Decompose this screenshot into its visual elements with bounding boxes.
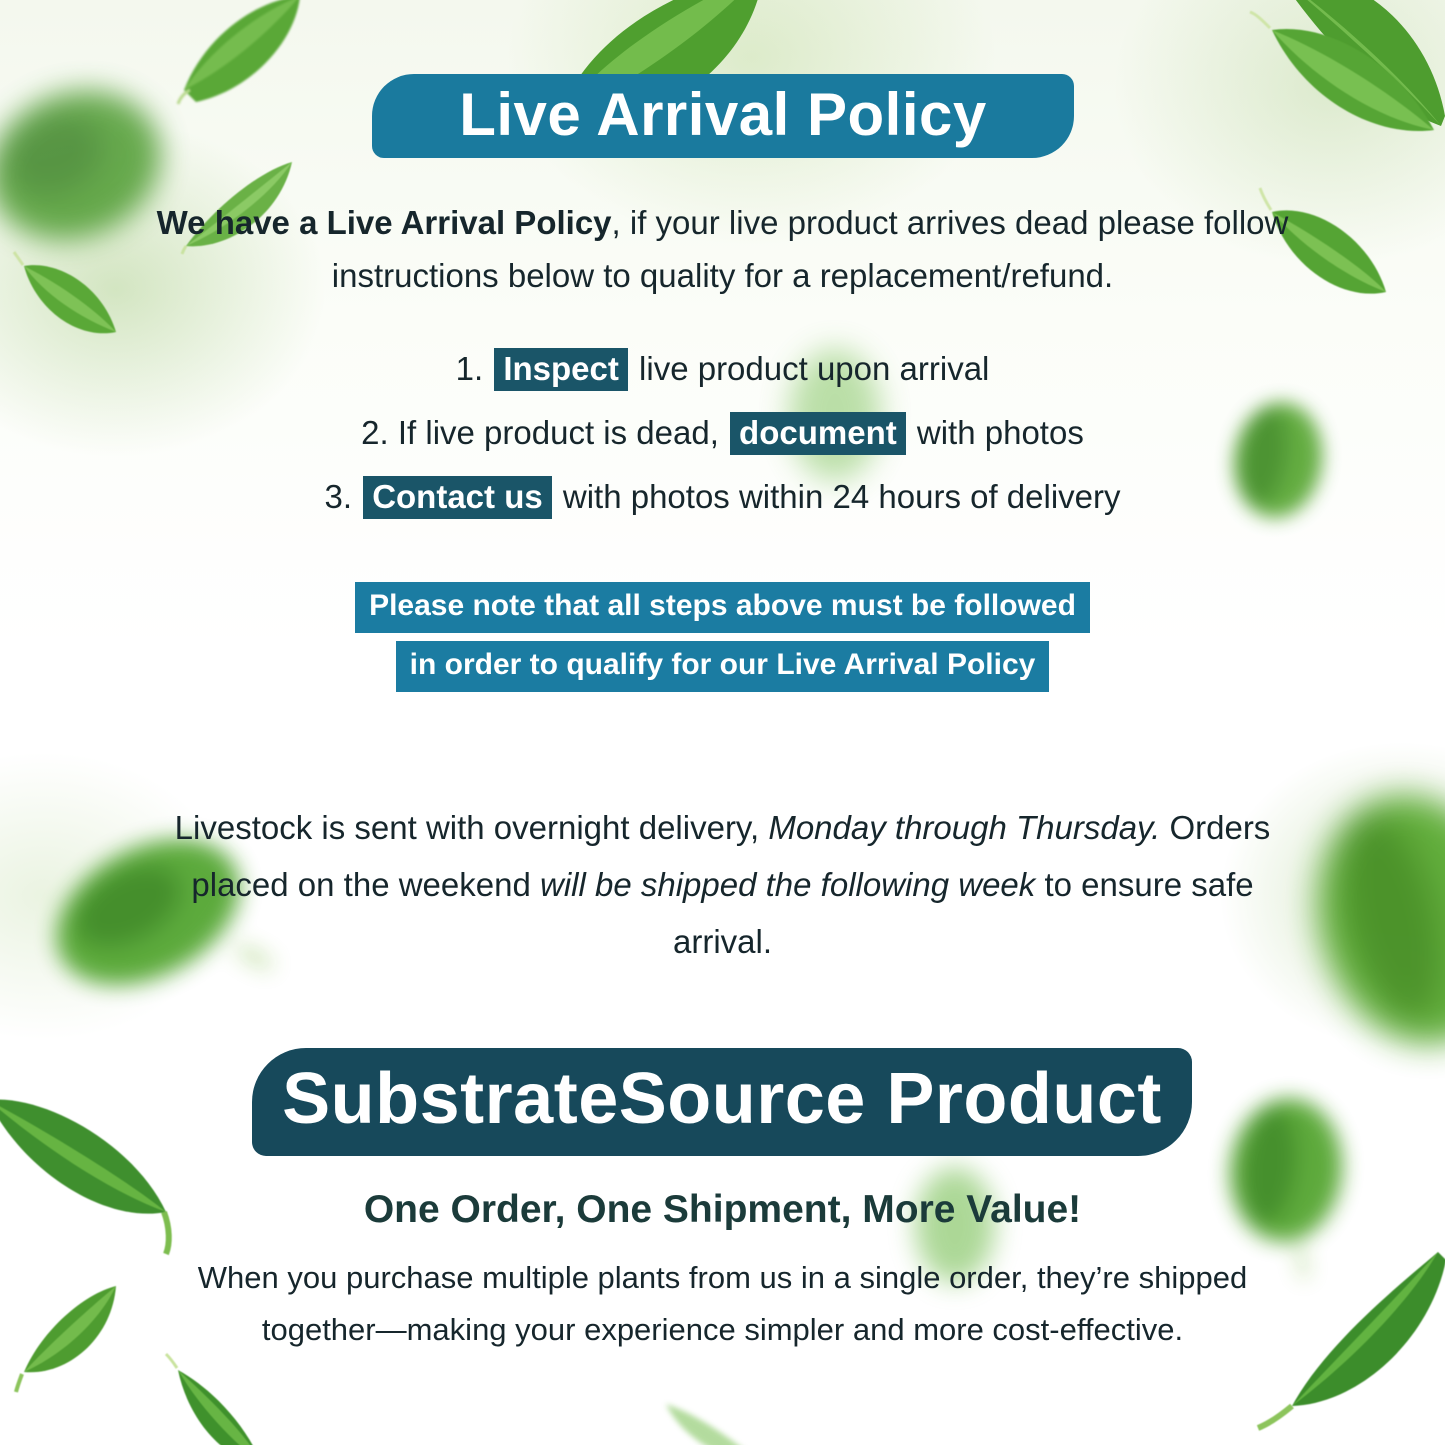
live-arrival-policy-infographic: Live Arrival Policy We have a Live Arriv… [0,0,1445,1445]
policy-note-line-2: in order to qualify for our Live Arrival… [396,641,1050,692]
policy-step-3-highlight: Contact us [363,476,552,519]
policy-step-2-highlight: document [730,412,906,455]
policy-step-2-number: 2. [361,414,389,451]
substratesource-product-banner-title: SubstrateSource Product [282,1058,1162,1140]
policy-step-2-head: If live product is dead, [398,414,719,451]
policy-step-2-tail: with photos [917,414,1084,451]
leaf-decoration-bottom-center-faint [660,1400,780,1445]
leaf-decoration-bottom-left [170,1368,310,1445]
policy-step-1-tail: live product upon arrival [639,350,989,387]
policy-step-3-tail: with photos within 24 hours of delivery [563,478,1121,515]
livestock-text-part-1: Livestock is sent with overnight deliver… [175,809,769,846]
livestock-shipping-paragraph: Livestock is sent with overnight deliver… [150,800,1295,970]
policy-step-1-number: 1. [456,350,484,387]
live-arrival-policy-banner: Live Arrival Policy [372,74,1074,158]
policy-note-callout: Please note that all steps above must be… [150,582,1295,692]
leaf-decoration-left-small-upper [14,252,124,352]
leaf-decoration-left-small-lower [16,1276,136,1391]
intro-lead-text: We have a Live Arrival Policy [157,204,612,241]
substratesource-product-banner: SubstrateSource Product [252,1048,1192,1156]
leaf-decoration-top-center [176,0,306,114]
live-arrival-policy-banner-title: Live Arrival Policy [459,80,987,149]
policy-steps-list: 1. Inspect live product upon arrival 2. … [150,350,1295,542]
intro-paragraph: We have a Live Arrival Policy, if your l… [150,196,1295,303]
policy-note-line-1: Please note that all steps above must be… [355,582,1090,633]
leaf-decoration-bottom-right [1270,1248,1445,1438]
policy-step-2: 2. If live product is dead, document wit… [150,414,1295,452]
value-proposition-body: When you purchase multiple plants from u… [150,1252,1295,1356]
policy-step-1-highlight: Inspect [494,348,628,391]
value-proposition-subheading: One Order, One Shipment, More Value! [150,1188,1295,1232]
policy-step-3: 3. Contact us with photos within 24 hour… [150,478,1295,516]
policy-step-1: 1. Inspect live product upon arrival [150,350,1295,388]
livestock-italic-days: Monday through Thursday. [768,809,1160,846]
leaf-decoration-right-upper [1248,12,1445,162]
policy-step-3-number: 3. [324,478,352,515]
livestock-italic-weekend-note: will be shipped the following week [540,866,1035,903]
leaf-decoration-right-blurred-large [1288,770,1445,1070]
leaf-decoration-top-right [1245,0,1445,150]
